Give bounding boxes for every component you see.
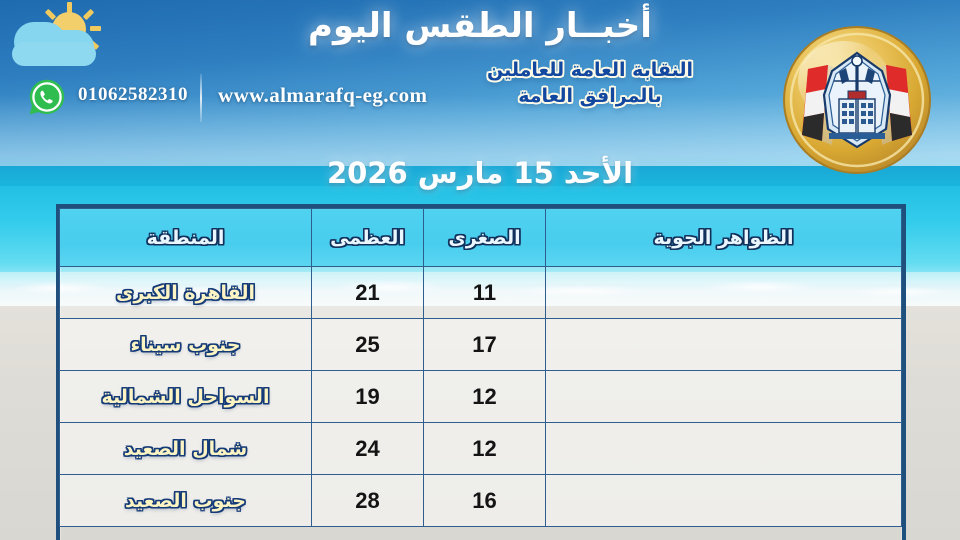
- cell-min-temp: 17: [424, 319, 546, 371]
- column-header-phenomena: الظواهر الجوية: [546, 209, 902, 267]
- cell-phenomena: [546, 319, 902, 371]
- whatsapp-phone-number[interactable]: 01062582310: [78, 84, 188, 106]
- table-row: 11 21 القاهرة الكبرى: [60, 267, 902, 319]
- contact-divider: [200, 74, 202, 122]
- table-row: 17 25 جنوب سيناء: [60, 319, 902, 371]
- whatsapp-icon[interactable]: [28, 78, 66, 116]
- cell-min-temp: 11: [424, 267, 546, 319]
- cell-phenomena: [546, 371, 902, 423]
- cell-region: القاهرة الكبرى: [60, 267, 312, 319]
- union-gold-badge-logo: [782, 25, 932, 175]
- cell-max-temp: 24: [312, 423, 424, 475]
- union-name-line-1: النقابة العامة للعاملين: [400, 58, 780, 84]
- cell-max-temp: 19: [312, 371, 424, 423]
- cell-max-temp: 25: [312, 319, 424, 371]
- cell-min-temp: 12: [424, 371, 546, 423]
- table-row: 12 24 شمال الصعيد: [60, 423, 902, 475]
- column-header-region: المنطقة: [60, 209, 312, 267]
- weather-news-graphic: أخبــار الطقس اليوم النقابة العامة للعام…: [0, 0, 960, 540]
- weather-table-container: الظواهر الجوية الصغرى العظمى المنطقة 11 …: [56, 204, 906, 540]
- table-header-row: الظواهر الجوية الصغرى العظمى المنطقة: [60, 209, 902, 267]
- date-label: الأحد 15 مارس 2026: [0, 156, 960, 190]
- website-url[interactable]: www.almarafq-eg.com: [218, 83, 427, 108]
- cell-min-temp: 16: [424, 475, 546, 527]
- column-header-max-temp: العظمى: [312, 209, 424, 267]
- cell-region: جنوب سيناء: [60, 319, 312, 371]
- cell-min-temp: 12: [424, 423, 546, 475]
- cell-phenomena: [546, 423, 902, 475]
- cell-phenomena: [546, 267, 902, 319]
- weather-table: الظواهر الجوية الصغرى العظمى المنطقة 11 …: [59, 208, 902, 527]
- union-name-line-2: بالمرافق العامة: [400, 84, 780, 110]
- weather-table-body: 11 21 القاهرة الكبرى 17 25 جنوب سيناء 12…: [60, 267, 902, 527]
- cell-max-temp: 28: [312, 475, 424, 527]
- cell-max-temp: 21: [312, 267, 424, 319]
- cell-region: جنوب الصعيد: [60, 475, 312, 527]
- cell-phenomena: [546, 475, 902, 527]
- cell-region: شمال الصعيد: [60, 423, 312, 475]
- union-name: النقابة العامة للعاملين بالمرافق العامة: [400, 58, 780, 109]
- table-row: 16 28 جنوب الصعيد: [60, 475, 902, 527]
- table-row: 12 19 السواحل الشمالية: [60, 371, 902, 423]
- column-header-min-temp: الصغرى: [424, 209, 546, 267]
- cell-region: السواحل الشمالية: [60, 371, 312, 423]
